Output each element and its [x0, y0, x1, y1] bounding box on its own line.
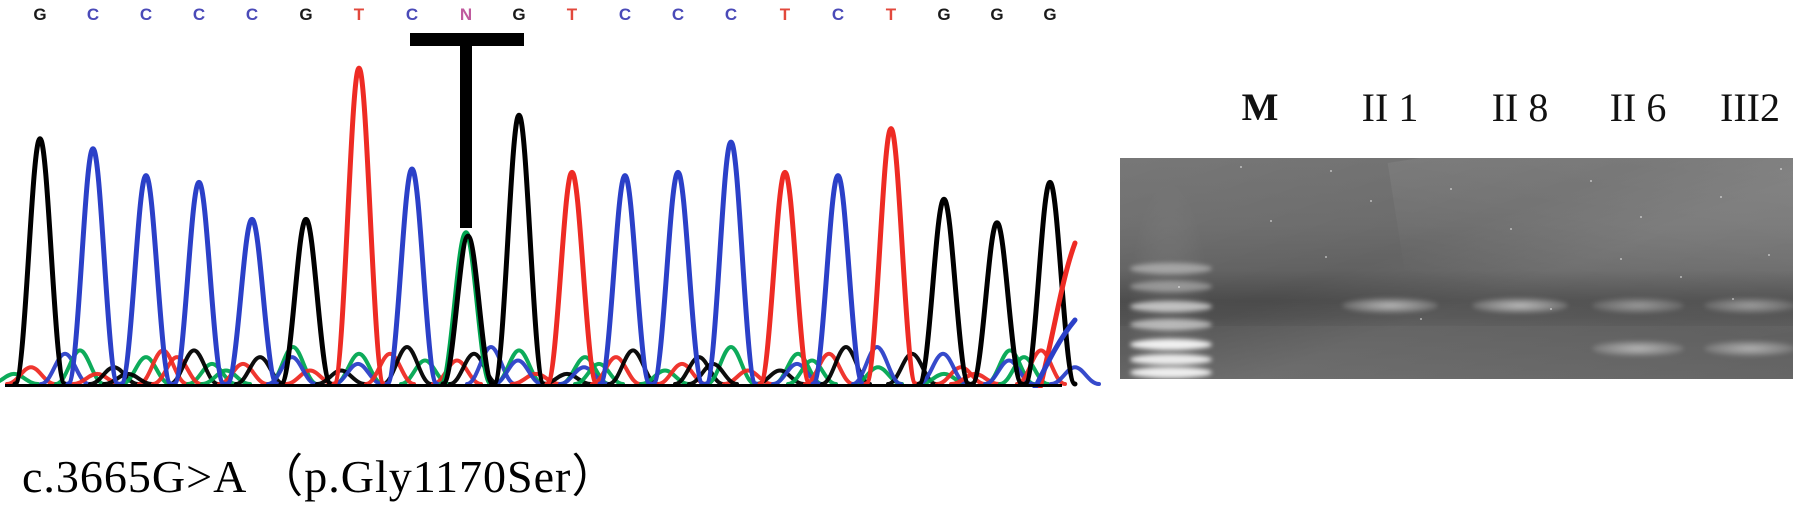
chromatogram-peak: [121, 176, 171, 384]
gel-speck: [1640, 216, 1642, 218]
gel-speck: [1370, 200, 1372, 202]
gel-sample-band: [1592, 341, 1684, 356]
peak-traces: [15, 68, 1075, 384]
base-call-letter: T: [561, 2, 583, 28]
base-call-letter: C: [827, 2, 849, 28]
gel-speck: [1240, 166, 1242, 168]
base-call-letter: C: [82, 2, 104, 28]
chromatogram-peak: [866, 129, 916, 384]
gel-speck: [1732, 298, 1734, 300]
gel-lane-label-row: MII 1II 8II 6III2: [1105, 84, 1794, 132]
gel-speck: [1450, 188, 1452, 190]
gel-lane-label-ii1: II 1: [1330, 84, 1450, 132]
gel-electrophoresis-image: [1120, 158, 1793, 379]
base-call-row: GCCCCGTCNGTCCCTCTGGG: [0, 2, 1105, 28]
base-call-letter: C: [667, 2, 689, 28]
base-call-letter: T: [880, 2, 902, 28]
base-call-letter: C: [241, 2, 263, 28]
gel-speck: [1270, 220, 1272, 222]
gel-ladder-band: [1130, 263, 1212, 274]
chromatogram-peak: [813, 176, 863, 384]
gel-speck: [1325, 256, 1327, 258]
chromatogram-peak: [600, 176, 650, 384]
gel-ladder-band: [1130, 281, 1212, 292]
chromatogram-panel: GCCCCGTCNGTCCCTCTGGG c.3665G>A （p.Gly117…: [0, 0, 1105, 527]
gel-speck: [1680, 276, 1682, 278]
gel-sample-band: [1704, 298, 1793, 313]
gel-ladder-band: [1130, 367, 1212, 378]
gel-speck: [1780, 168, 1782, 170]
base-call-letter: G: [295, 2, 317, 28]
chromatogram-peak: [919, 199, 969, 384]
gel-sample-band: [1472, 298, 1568, 313]
chromatogram-peak: [653, 172, 703, 384]
base-call-letter: C: [135, 2, 157, 28]
gel-speck: [1720, 196, 1722, 198]
chromatogram-trace: [0, 28, 1105, 388]
gel-ladder-band: [1130, 354, 1212, 365]
base-call-letter: C: [188, 2, 210, 28]
chromatogram-trace-svg: [0, 28, 1105, 388]
trace-baseline: [5, 384, 1062, 387]
gel-speck: [1550, 308, 1552, 310]
chromatogram-peak: [972, 223, 1022, 384]
base-call-letter: C: [401, 2, 423, 28]
base-call-letter: G: [986, 2, 1008, 28]
base-call-letter: T: [348, 2, 370, 28]
chromatogram-peak: [227, 219, 277, 384]
base-call-letter: G: [508, 2, 530, 28]
base-call-letter: C: [720, 2, 742, 28]
chromatogram-peak: [68, 149, 118, 384]
gel-ladder-band: [1130, 301, 1212, 312]
gel-background-smear: [1120, 270, 1793, 326]
chromatogram-peak: [494, 115, 544, 384]
gel-sample-band: [1592, 298, 1684, 313]
gel-lane-label-iii2: III2: [1690, 84, 1794, 132]
gel-panel: MII 1II 8II 6III2: [1105, 0, 1794, 527]
gel-sample-band: [1342, 298, 1438, 313]
chromatogram-peak: [760, 172, 810, 384]
gel-lane-label-m: M: [1200, 84, 1320, 132]
gel-speck: [1420, 318, 1422, 320]
gel-ladder-band: [1130, 319, 1212, 330]
gel-speck: [1620, 258, 1622, 260]
chromatogram-peak: [281, 219, 331, 384]
gel-speck: [1590, 180, 1592, 182]
gel-speck: [1510, 228, 1512, 230]
base-call-letter: G: [1039, 2, 1061, 28]
base-call-letter: G: [933, 2, 955, 28]
gel-sample-band: [1704, 341, 1793, 356]
variant-caption: c.3665G>A （p.Gly1170Ser）: [22, 440, 618, 506]
gel-lane-label-ii8: II 8: [1460, 84, 1580, 132]
gel-speck: [1768, 254, 1770, 256]
base-call-letter: C: [614, 2, 636, 28]
gel-speck: [1178, 286, 1180, 288]
gel-lane-label-ii6: II 6: [1578, 84, 1698, 132]
base-call-letter: N: [455, 2, 477, 28]
chromatogram-peak: [547, 172, 597, 384]
gel-ladder-band: [1130, 339, 1212, 350]
base-call-letter: T: [774, 2, 796, 28]
figure-root: GCCCCGTCNGTCCCTCTGGG c.3665G>A （p.Gly117…: [0, 0, 1794, 527]
base-call-letter: G: [29, 2, 51, 28]
gel-speck: [1330, 170, 1332, 172]
chromatogram-peak: [334, 68, 384, 384]
chromatogram-peak: [15, 139, 65, 384]
